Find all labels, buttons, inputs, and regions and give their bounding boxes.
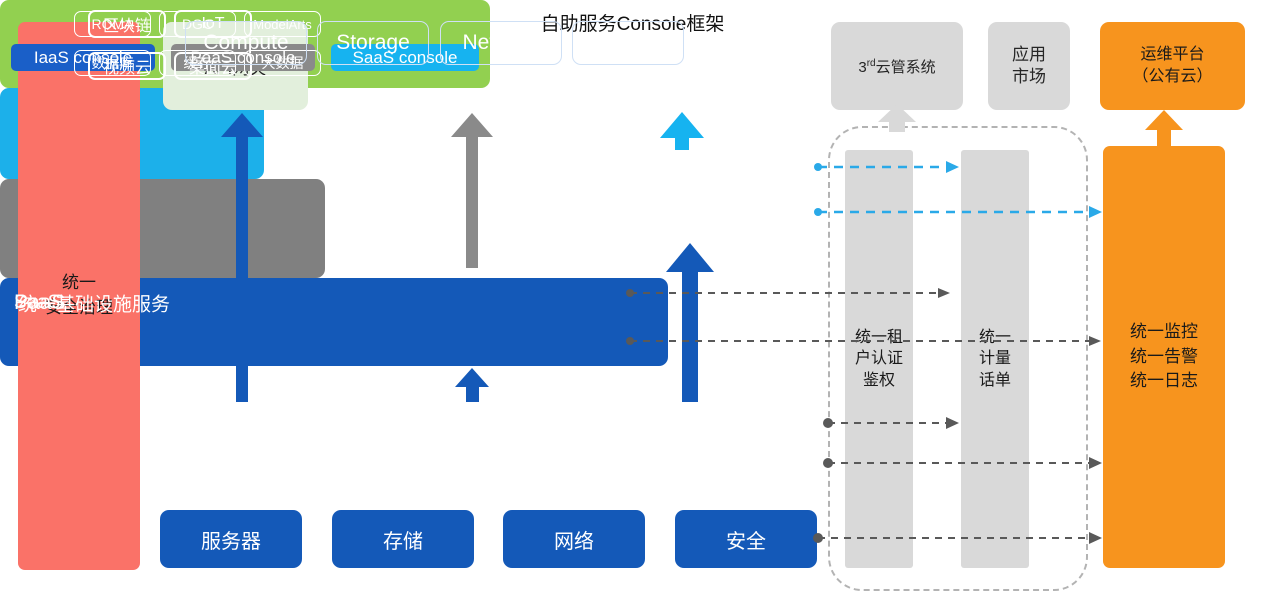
arrow-infra-to-saas	[666, 243, 714, 402]
infrastructure-label: 统一基础设施服务	[18, 289, 170, 316]
unified-monitoring-panel[interactable]: 统一监控 统一告警 统一日志	[1103, 146, 1225, 568]
ops-box-line2: （公有云）	[1132, 66, 1212, 88]
third-party-cloud-management-box[interactable]: 3rd云管系统	[831, 22, 963, 110]
ops-panel-line2: 统一告警	[1130, 345, 1198, 370]
ops-panel-line3: 统一日志	[1130, 369, 1198, 394]
metering-line2: 计量	[979, 348, 1011, 370]
app-market-line1: 应用	[1012, 44, 1046, 66]
metering-line3: 话单	[979, 370, 1011, 392]
arrow-infra-to-paas	[455, 368, 489, 402]
paas-chip-roma[interactable]: ROMA	[74, 11, 151, 37]
ops-platform-box[interactable]: 运维平台 （公有云）	[1100, 22, 1245, 110]
auth-line1: 统一租	[855, 327, 903, 349]
app-market-box[interactable]: 应用 市场	[988, 22, 1070, 110]
bottom-chip-security[interactable]: 安全	[675, 510, 817, 568]
infra-chip-storage[interactable]: Storage	[317, 21, 429, 65]
infra-chip-cce[interactable]: CCE	[572, 21, 684, 65]
third-party-label: 3rd云管系统	[858, 56, 935, 77]
architecture-diagram: 统一 安全治理 API网关 自助服务Console框架 IaaS console…	[0, 0, 1265, 605]
auth-line2: 户认证	[855, 348, 903, 370]
paas-chip-database[interactable]: 数据库	[74, 50, 151, 76]
unified-tenant-auth-column[interactable]: 统一租 户认证 鉴权	[845, 150, 913, 568]
ops-panel-line1: 统一监控	[1130, 320, 1198, 345]
infra-chip-compute[interactable]: Compute	[185, 21, 307, 65]
bottom-chip-network[interactable]: 网络	[503, 510, 645, 568]
infra-chip-network[interactable]: Network	[440, 21, 562, 65]
bottom-chip-server[interactable]: 服务器	[160, 510, 302, 568]
metering-line1: 统一	[979, 327, 1011, 349]
app-market-line2: 市场	[1012, 66, 1046, 88]
arrow-paas-to-console	[451, 113, 493, 268]
auth-line3: 鉴权	[855, 370, 903, 392]
unified-metering-billing-column[interactable]: 统一 计量 话单	[961, 150, 1029, 568]
ops-box-line1: 运维平台	[1132, 44, 1212, 66]
arrow-saas-to-console	[660, 112, 704, 150]
arrow-ops-panel-to-ops-box	[1145, 110, 1183, 146]
bottom-chip-storage[interactable]: 存储	[332, 510, 474, 568]
